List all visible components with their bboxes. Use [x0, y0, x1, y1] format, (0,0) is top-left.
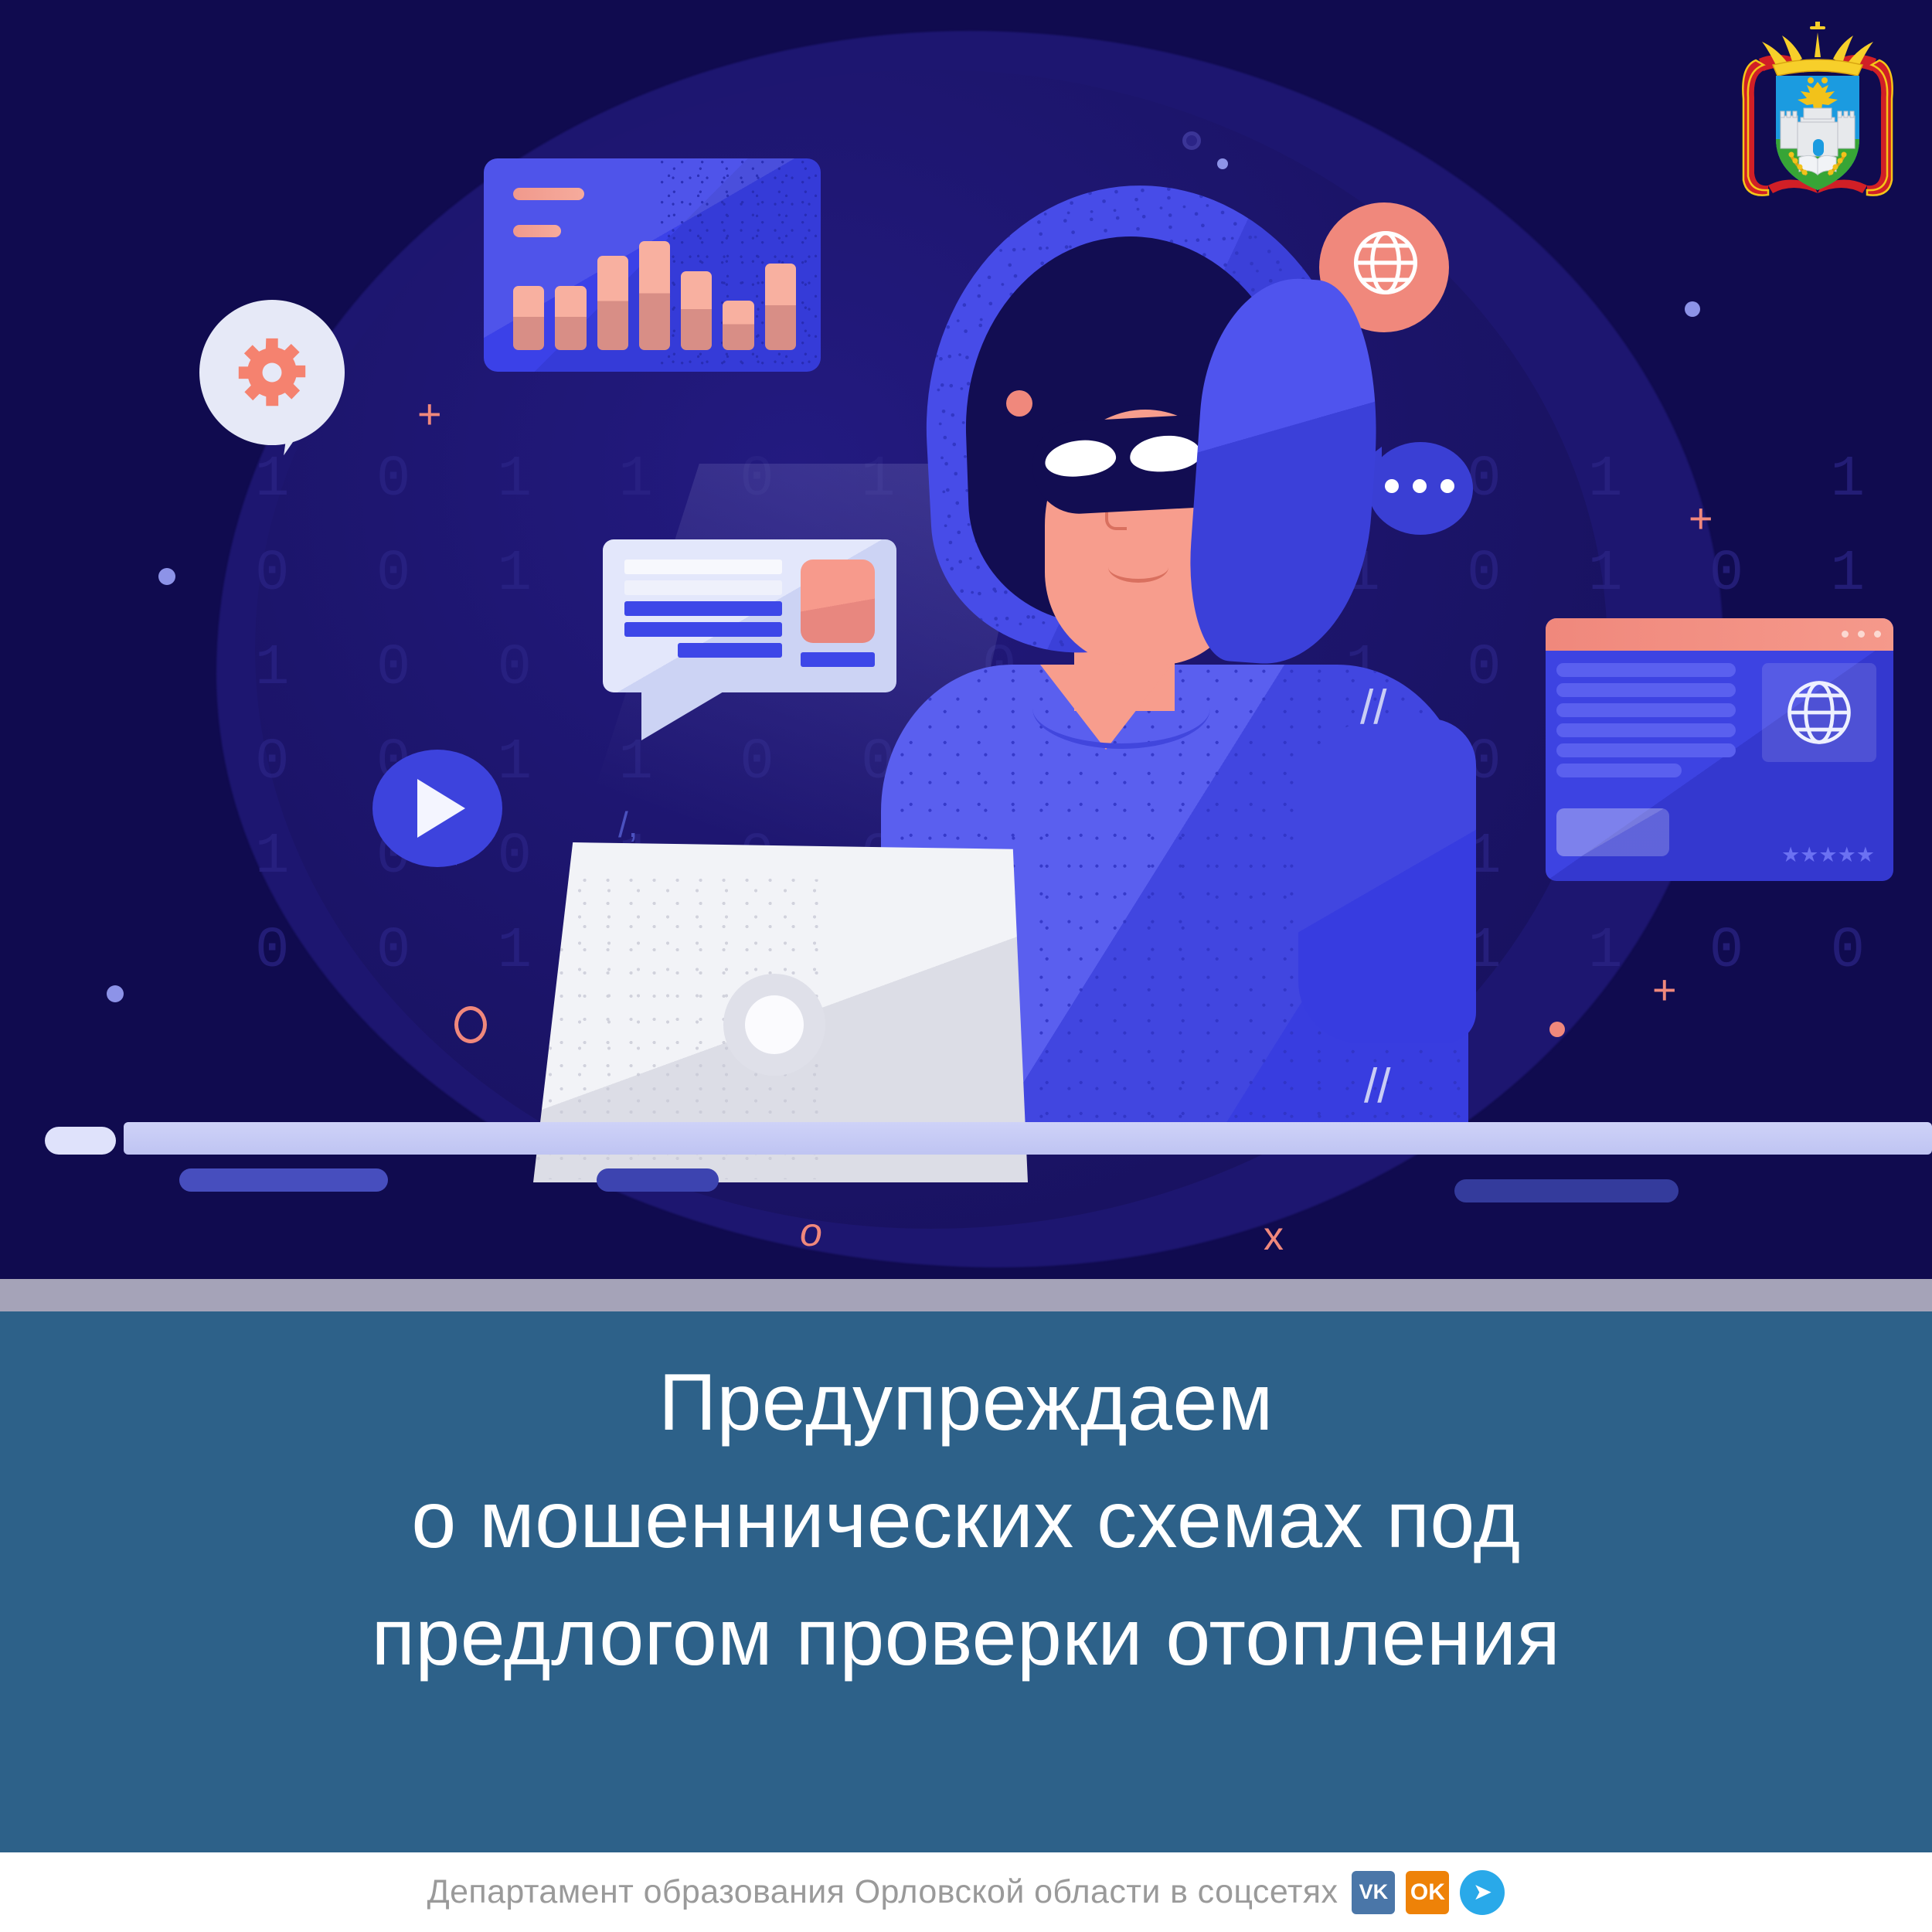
desk-underbar	[597, 1168, 719, 1192]
vk-icon[interactable]: VK	[1352, 1871, 1395, 1914]
plus-mark-icon: +	[1689, 495, 1713, 543]
slash-mark-icon: //	[1360, 680, 1386, 735]
headline-line-1: Предупреждаем	[0, 1344, 1932, 1461]
dot-mark-icon	[1217, 158, 1228, 169]
browser-action-button[interactable]	[1556, 808, 1669, 856]
dot-mark-icon	[158, 568, 175, 585]
headline-line-3: предлогом проверки отопления	[0, 1579, 1932, 1696]
ring-mark-icon	[454, 1006, 487, 1043]
dot-mark-icon	[1549, 1022, 1565, 1037]
browser-text-line	[1556, 723, 1736, 737]
chart-bar	[639, 241, 670, 350]
x-mark-icon: x	[1264, 1213, 1284, 1260]
desk-underbar	[179, 1168, 388, 1192]
dot-mark-icon	[1685, 301, 1700, 317]
browser-titlebar	[1546, 618, 1893, 651]
browser-control-dot	[1842, 631, 1849, 638]
chart-bars	[513, 226, 796, 350]
hacker-nose	[1105, 510, 1127, 530]
globe-icon	[1782, 675, 1856, 750]
plus-mark-icon: +	[417, 390, 442, 438]
chart-bar	[513, 286, 544, 350]
document-line	[678, 643, 782, 658]
slash-mark-icon: //	[1364, 1059, 1390, 1114]
document-card-accent-line	[801, 652, 875, 667]
document-card	[603, 539, 896, 692]
chart-bar	[681, 271, 712, 350]
document-card-accent-square	[801, 560, 875, 643]
document-line	[624, 601, 782, 616]
document-line	[624, 560, 782, 574]
chart-bar	[555, 286, 586, 350]
separator-strip	[0, 1279, 1932, 1311]
browser-text-lines	[1556, 663, 1736, 784]
document-line	[624, 580, 782, 595]
desk-edge-left	[45, 1127, 116, 1155]
footer-bar: Департамент образования Орловской област…	[0, 1852, 1932, 1932]
circle-outline-icon	[1182, 131, 1201, 150]
document-line	[624, 622, 782, 637]
circle-mark-icon: o	[800, 1209, 822, 1256]
browser-text-line	[1556, 663, 1736, 677]
headline-text: Предупреждаем о мошеннических схемах под…	[0, 1344, 1932, 1696]
hoodie-collar	[1032, 668, 1210, 753]
browser-text-line	[1556, 764, 1682, 777]
browser-control-dot	[1858, 631, 1865, 638]
browser-globe-panel	[1762, 663, 1876, 762]
slash-mark-icon: /,	[618, 804, 638, 845]
gear-icon	[235, 335, 309, 410]
play-speech-bubble	[372, 750, 502, 867]
bar-chart-card	[484, 158, 821, 372]
browser-control-dot	[1874, 631, 1881, 638]
document-card-tail	[641, 686, 733, 740]
illustration-area: 1 0 1 1 0 1 1 0 1 1 0 1 1 0 1 0 0 1 0 1 …	[0, 0, 1932, 1279]
dot-mark-icon	[1006, 390, 1032, 417]
browser-text-line	[1556, 743, 1736, 757]
headline-line-2: о мошеннических схемах под	[0, 1461, 1932, 1579]
telegram-icon[interactable]: ➤	[1460, 1870, 1505, 1915]
oryol-oblast-coat-of-arms	[1733, 22, 1903, 215]
hacker-smile	[1108, 552, 1168, 583]
browser-text-line	[1556, 703, 1736, 717]
dot-mark-icon	[107, 985, 124, 1002]
desk-surface	[124, 1122, 1932, 1155]
gear-speech-bubble	[199, 300, 345, 445]
headline-banner: Предупреждаем о мошеннических схемах под…	[0, 1311, 1932, 1852]
play-icon	[417, 779, 465, 838]
browser-window-controls	[1842, 631, 1881, 638]
chart-bar	[723, 301, 753, 350]
ok-icon[interactable]: OK	[1406, 1871, 1449, 1914]
document-card-lines	[624, 560, 782, 664]
chart-bar	[597, 256, 628, 350]
plus-mark-icon: +	[1652, 966, 1677, 1014]
browser-window: ★★★★★	[1546, 618, 1893, 881]
chart-bar	[765, 264, 796, 350]
browser-rating-stars: ★★★★★	[1781, 845, 1875, 866]
footer-text: Департамент образования Орловской област…	[427, 1873, 1338, 1911]
hacker-right-arm	[1298, 719, 1476, 1043]
poster-root: 1 0 1 1 0 1 1 0 1 1 0 1 1 0 1 0 0 1 0 1 …	[0, 0, 1932, 1932]
browser-text-line	[1556, 683, 1736, 697]
laptop-logo	[723, 974, 825, 1076]
chart-header-line-1	[513, 188, 584, 200]
social-links: VK OK ➤	[1352, 1870, 1505, 1915]
gear-bubble-tail	[284, 422, 316, 460]
desk-underbar	[1454, 1179, 1679, 1202]
